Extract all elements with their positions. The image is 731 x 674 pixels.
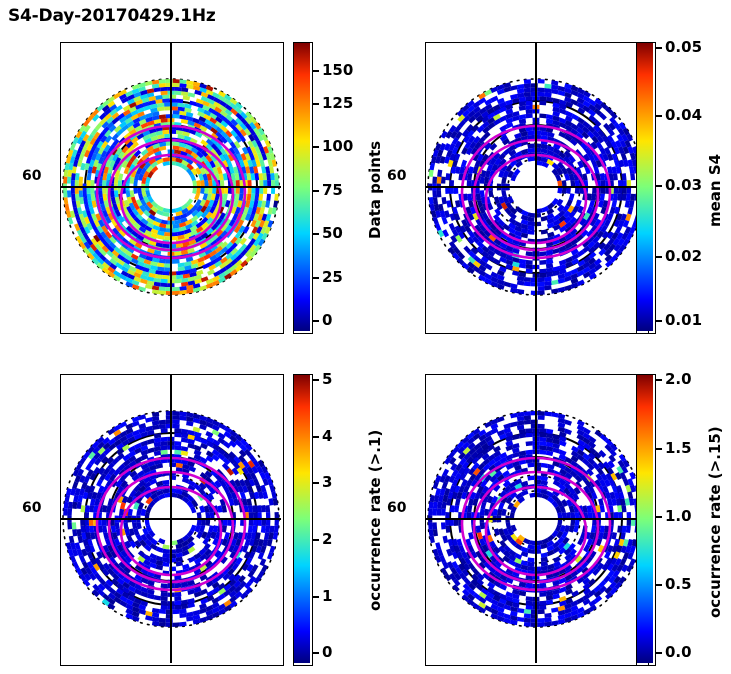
cb1-tick-3: 75 <box>322 181 343 199</box>
colorbar-label-3: occurrence rate (>.1) <box>366 398 384 643</box>
cb4-tick-1: 0.5 <box>665 575 692 593</box>
cb1-tick-6: 150 <box>322 61 353 79</box>
colorbar-label-4: occurrence rate (>.15) <box>706 398 724 646</box>
colorbar-occ15 <box>636 374 656 666</box>
colorbar-label-2: mean S4 <box>706 115 724 265</box>
latitude-label-3: 60 <box>22 500 41 516</box>
cb1-tick-4: 100 <box>322 137 353 155</box>
cb3-tick-1: 1 <box>322 587 332 605</box>
cb2-tick-4: 0.05 <box>665 38 702 56</box>
colorbar-data-points <box>293 42 313 334</box>
polar-plot-svg-1 <box>61 43 281 331</box>
polar-plot-mean-s4 <box>425 42 649 334</box>
cb2-tick-2: 0.03 <box>665 176 702 194</box>
page-title: S4-Day-20170429.1Hz <box>8 6 216 26</box>
polar-plot-svg-3 <box>61 375 281 663</box>
cb4-tick-2: 1.0 <box>665 507 692 525</box>
cb3-tick-0: 0 <box>322 643 332 661</box>
cb2-tick-3: 0.04 <box>665 106 702 124</box>
cb4-tick-4: 2.0 <box>665 370 692 388</box>
cb3-tick-5: 5 <box>322 370 332 388</box>
latitude-label-2: 60 <box>387 168 406 184</box>
polar-plot-svg-4 <box>426 375 646 663</box>
latitude-label-4: 60 <box>387 500 406 516</box>
polar-plot-svg-2 <box>426 43 646 331</box>
cb3-tick-4: 4 <box>322 427 332 445</box>
cb3-tick-3: 3 <box>322 473 332 491</box>
cb1-tick-2: 50 <box>322 224 343 242</box>
cb2-tick-1: 0.02 <box>665 247 702 265</box>
polar-plot-occ15 <box>425 374 649 666</box>
colorbar-occ1 <box>293 374 313 666</box>
cb1-tick-0: 0 <box>322 311 332 329</box>
cb1-tick-1: 25 <box>322 268 343 286</box>
polar-plot-data-points <box>60 42 284 334</box>
colorbar-mean-s4 <box>636 42 656 334</box>
latitude-label-1: 60 <box>22 168 41 184</box>
polar-plot-occ1 <box>60 374 284 666</box>
cb4-tick-3: 1.5 <box>665 439 692 457</box>
cb4-tick-0: 0.0 <box>665 643 692 661</box>
cb1-tick-5: 125 <box>322 94 353 112</box>
cb2-tick-0: 0.01 <box>665 311 702 329</box>
colorbar-label-1: Data points <box>366 95 384 285</box>
cb3-tick-2: 2 <box>322 530 332 548</box>
